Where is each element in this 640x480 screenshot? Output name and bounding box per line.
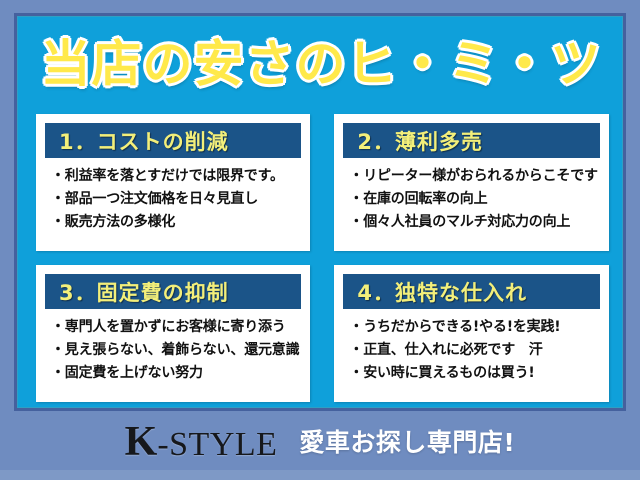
list-item: ・リピーター様がおられるからこそです	[349, 165, 597, 188]
reason-card-4-body: ・うちだからできる!やる!を実践! ・正直、仕入れに必死です 汗 ・安い時に買え…	[343, 309, 599, 396]
footer-bar: K-STYLE 愛車お探し専門店!	[0, 414, 640, 470]
list-item: ・個々人社員のマルチ対応力の向上	[349, 211, 597, 234]
list-item: ・販売方法の多様化	[51, 211, 299, 234]
brand-initial: K	[125, 421, 158, 463]
reason-card-3-body: ・専門人を置かずにお客様に寄り添う ・見え張らない、着飾らない、還元意識 ・固定…	[45, 309, 301, 396]
bottom-accent-strip	[0, 470, 640, 480]
brand-logo: K-STYLE	[125, 421, 278, 463]
reason-card-4-heading: 4．独特な仕入れ	[357, 277, 527, 307]
reason-card-grid: 1．コストの削減 ・利益率を落とすだけでは限界です。 ・部品一つ注文価格を日々見…	[36, 114, 606, 402]
reason-card-2: 2．薄利多売 ・リピーター様がおられるからこそです ・在庫の回転率の向上 ・個々…	[334, 114, 608, 251]
reason-card-1-heading: 1．コストの削減	[59, 126, 229, 156]
reason-card-3-heading: 3．固定費の抑制	[59, 277, 229, 307]
list-item: ・利益率を落とすだけでは限界です。	[51, 165, 299, 188]
blue-panel: 当店の安さのヒ・ミ・ツ 1．コストの削減 ・利益率を落とすだけでは限界です。 ・…	[17, 16, 623, 408]
list-item: ・安い時に買えるものは買う!	[349, 362, 597, 385]
advert-banner: 当店の安さのヒ・ミ・ツ 1．コストの削減 ・利益率を落とすだけでは限界です。 ・…	[0, 0, 640, 480]
list-item: ・専門人を置かずにお客様に寄り添う	[51, 316, 299, 339]
reason-card-1-header: 1．コストの削減	[45, 123, 301, 158]
reason-card-1: 1．コストの削減 ・利益率を落とすだけでは限界です。 ・部品一つ注文価格を日々見…	[36, 114, 310, 251]
page-title: 当店の安さのヒ・ミ・ツ	[18, 39, 624, 89]
reason-card-2-heading: 2．薄利多売	[357, 126, 483, 156]
reason-card-2-body: ・リピーター様がおられるからこそです ・在庫の回転率の向上 ・個々人社員のマルチ…	[343, 158, 599, 245]
footer-tagline: 愛車お探し専門店!	[299, 430, 515, 455]
reason-card-2-header: 2．薄利多売	[343, 123, 599, 158]
list-item: ・うちだからできる!やる!を実践!	[349, 316, 597, 339]
list-item: ・部品一つ注文価格を日々見直し	[51, 188, 299, 211]
list-item: ・在庫の回転率の向上	[349, 188, 597, 211]
list-item: ・固定費を上げない努力	[51, 362, 299, 385]
brand-wordmark: -STYLE	[157, 428, 277, 462]
reason-card-1-body: ・利益率を落とすだけでは限界です。 ・部品一つ注文価格を日々見直し ・販売方法の…	[45, 158, 301, 245]
list-item: ・見え張らない、着飾らない、還元意識	[51, 339, 299, 362]
reason-card-4: 4．独特な仕入れ ・うちだからできる!やる!を実践! ・正直、仕入れに必死です …	[334, 265, 608, 402]
reason-card-3-header: 3．固定費の抑制	[45, 274, 301, 309]
list-item: ・正直、仕入れに必死です 汗	[349, 339, 597, 362]
reason-card-4-header: 4．独特な仕入れ	[343, 274, 599, 309]
reason-card-3: 3．固定費の抑制 ・専門人を置かずにお客様に寄り添う ・見え張らない、着飾らない…	[36, 265, 310, 402]
